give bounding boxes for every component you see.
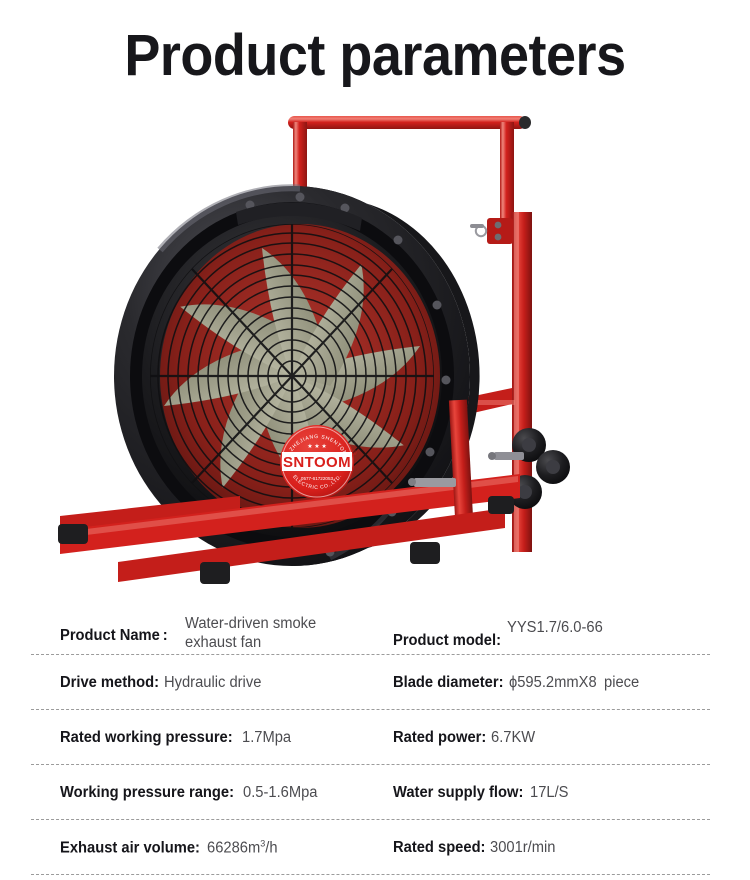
- spec-value: 66286m3/h: [207, 838, 278, 857]
- spec-label: Product model:: [393, 632, 501, 650]
- spec-value: Water-driven smoke exhaust fan: [185, 614, 337, 652]
- spec-cell-product-name: Product Name : Water-driven smoke exhaus…: [60, 614, 345, 652]
- product-image: SNTOOM ® ZHEJIANG SHENTONG ★ ★ ★ 0577-61…: [0, 100, 750, 595]
- spec-value: 6.7KW: [491, 729, 535, 747]
- spec-value-suffix: /h: [266, 839, 278, 856]
- table-row: Working pressure range: 0.5-1.6Mpa Water…: [0, 765, 750, 820]
- spec-value: Hydraulic drive: [164, 674, 261, 692]
- table-row: Rated working pressure: 1.7Mpa Rated pow…: [0, 710, 750, 765]
- table-row: Drive method: Hydraulic drive Blade diam…: [0, 655, 750, 710]
- table-row: Exhaust air volume: 66286m3/h Rated spee…: [0, 820, 750, 875]
- svg-text:★ ★ ★: ★ ★ ★: [307, 443, 326, 450]
- spec-cell-rated-power: Rated power: 6.7KW: [393, 729, 538, 747]
- spec-label: Blade diameter:: [393, 674, 503, 692]
- spec-label: Rated power:: [393, 729, 486, 747]
- spec-label: Exhaust air volume:: [60, 839, 200, 857]
- svg-text:®: ®: [352, 450, 357, 457]
- spec-label: Rated working pressure:: [60, 729, 233, 747]
- spec-cell-water-supply-flow: Water supply flow: 17L/S: [393, 784, 571, 802]
- spec-value: 1.7Mpa: [242, 729, 291, 747]
- row-separator: [31, 874, 710, 875]
- spec-cell-exhaust-air-volume: Exhaust air volume: 66286m3/h: [60, 838, 282, 857]
- page-title: Product parameters: [26, 20, 724, 92]
- spec-label: Water supply flow:: [393, 784, 523, 802]
- spec-cell-blade-diameter: Blade diameter: ϕ595.2mmX8 piece: [393, 674, 646, 692]
- svg-text:0577-61722053: 0577-61722053: [301, 476, 334, 481]
- spec-value: 3001r/min: [490, 839, 555, 857]
- spec-cell-product-model: Product model: YYS1.7/6.0-66: [393, 619, 608, 637]
- spec-cell-rated-working-pressure: Rated working pressure: 1.7Mpa: [60, 729, 293, 747]
- spec-label: Rated speed:: [393, 839, 485, 857]
- spec-label: Working pressure range:: [60, 784, 234, 802]
- table-row: Product Name : Water-driven smoke exhaus…: [0, 600, 750, 655]
- spec-label: Drive method:: [60, 674, 159, 692]
- spec-value: 17L/S: [530, 784, 568, 802]
- specifications-table: Product Name : Water-driven smoke exhaus…: [0, 600, 750, 880]
- svg-text:SNTOOM: SNTOOM: [283, 454, 351, 471]
- spec-value: 0.5-1.6Mpa: [243, 784, 318, 802]
- spec-value-prefix: 66286m: [207, 839, 260, 856]
- spec-cell-rated-speed: Rated speed: 3001r/min: [393, 839, 559, 857]
- spec-value: ϕ595.2mmX8 piece: [509, 674, 639, 692]
- spec-value: YYS1.7/6.0-66: [507, 619, 603, 637]
- spec-cell-working-pressure-range: Working pressure range: 0.5-1.6Mpa: [60, 784, 322, 802]
- spec-cell-drive-method: Drive method: Hydraulic drive: [60, 674, 267, 692]
- spec-label: Product Name :: [60, 627, 168, 645]
